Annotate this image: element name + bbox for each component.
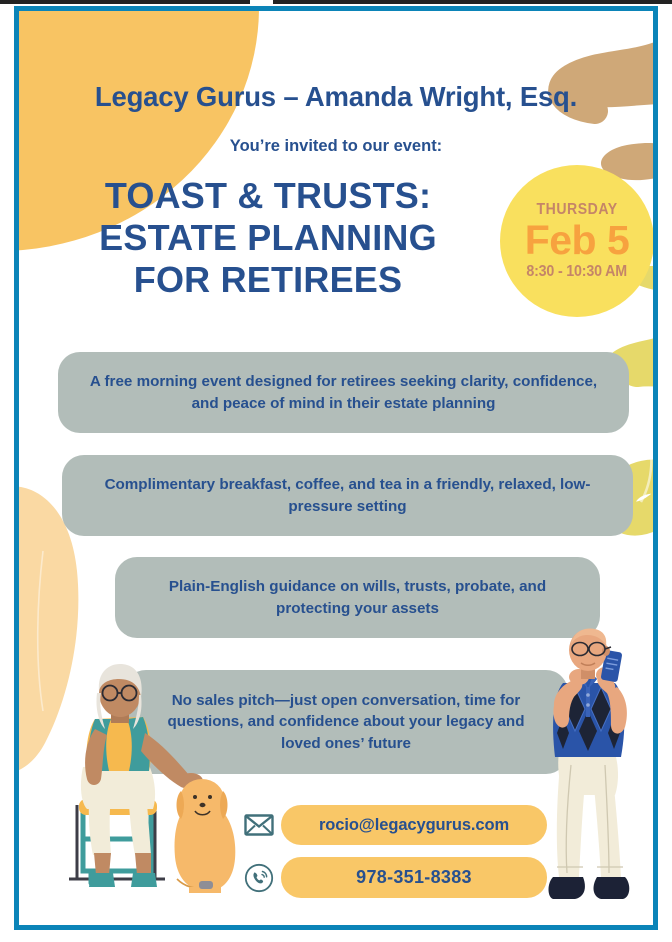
- event-flyer-poster: Legacy Gurus – Amanda Wright, Esq. You’r…: [14, 6, 658, 930]
- date-badge: THURSDAY Feb 5 8:30 - 10:30 AM: [500, 165, 654, 317]
- phone-circle-icon: [237, 863, 281, 893]
- older-man-with-phone-illustration: [535, 625, 647, 915]
- event-title-line-2: ESTATE PLANNING: [43, 217, 493, 259]
- benefit-box: Complimentary breakfast, coffee, and tea…: [62, 455, 633, 536]
- page-title: Legacy Gurus – Amanda Wright, Esq.: [19, 81, 653, 113]
- woman-in-wheelchair-with-dog-illustration: [39, 657, 239, 907]
- event-title-line-3: FOR RETIREES: [43, 259, 493, 301]
- contact-block: rocio@legacygurus.com 978-351-8383: [237, 805, 547, 910]
- contact-row-phone[interactable]: 978-351-8383: [237, 857, 547, 898]
- benefit-box: Plain-English guidance on wills, trusts,…: [115, 557, 600, 638]
- email-text: rocio@legacygurus.com: [319, 816, 509, 835]
- benefit-box: A free morning event designed for retire…: [58, 352, 629, 433]
- phone-text: 978-351-8383: [356, 867, 472, 888]
- badge-time: 8:30 - 10:30 AM: [527, 263, 628, 281]
- benefit-text: A free morning event designed for retire…: [80, 371, 607, 414]
- top-chrome-segment-right: [273, 0, 672, 4]
- top-chrome-strip: [0, 0, 672, 4]
- contact-row-email[interactable]: rocio@legacygurus.com: [237, 805, 547, 845]
- top-chrome-segment-left: [0, 0, 250, 4]
- email-pill[interactable]: rocio@legacygurus.com: [281, 805, 547, 845]
- event-title-line-1: TOAST & TRUSTS:: [43, 175, 493, 217]
- badge-date: Feb 5: [525, 220, 630, 262]
- phone-pill[interactable]: 978-351-8383: [281, 857, 547, 898]
- benefit-text: Plain-English guidance on wills, trusts,…: [137, 576, 578, 619]
- event-title: TOAST & TRUSTS: ESTATE PLANNING FOR RETI…: [43, 175, 493, 301]
- badge-weekday: THURSDAY: [536, 201, 617, 219]
- benefit-text: Complimentary breakfast, coffee, and tea…: [84, 474, 611, 517]
- envelope-icon: [237, 814, 281, 836]
- invite-subtitle: You’re invited to our event:: [19, 137, 653, 156]
